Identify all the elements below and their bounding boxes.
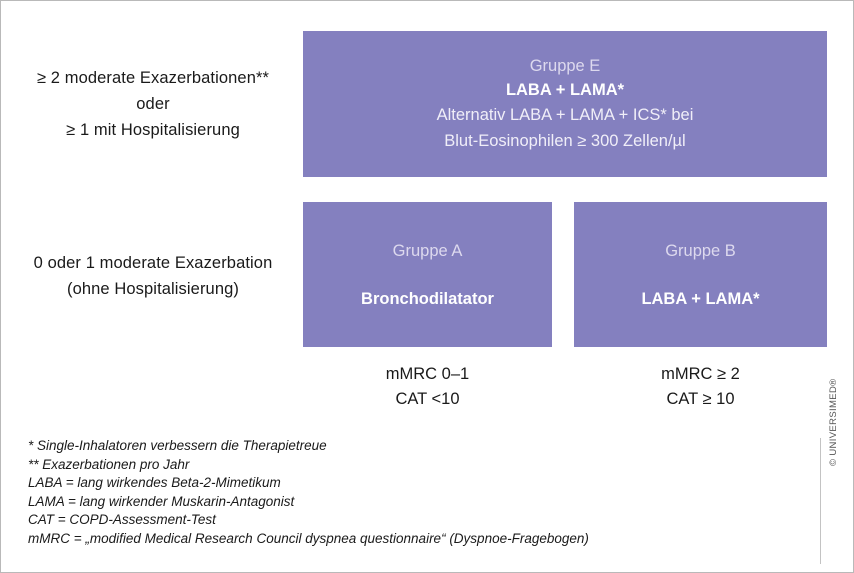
copd-treatment-diagram: ≥ 2 moderate Exazerbationen** oder ≥ 1 m… [0,0,854,573]
group-e-therapy: LABA + LAMA* [506,78,624,102]
row-label-high-exacerbation: ≥ 2 moderate Exazerbationen** oder ≥ 1 m… [9,65,297,143]
row-label-low-line2: (ohne Hospitalisierung) [9,276,297,302]
footnote-line: LAMA = lang wirkender Muskarin-Antagonis… [28,493,788,512]
footnote-line: mMRC = „modified Medical Research Counci… [28,530,788,549]
group-a-box: Gruppe A Bronchodilatator [303,202,552,347]
copyright-divider [820,438,821,564]
group-e-name: Gruppe E [530,54,601,78]
axis-caption-group-b: mMRC ≥ 2 CAT ≥ 10 [574,362,827,412]
row-label-low-line1: 0 oder 1 moderate Exazerbation [9,250,297,276]
footnote-line: ** Exazerbationen pro Jahr [28,456,788,475]
footnote-line: CAT = COPD-Assessment-Test [28,511,788,530]
axis-caption-group-b-cat: CAT ≥ 10 [574,387,827,412]
footnote-line: LABA = lang wirkendes Beta-2-Mimetikum [28,474,788,493]
group-b-therapy: LABA + LAMA* [641,287,759,311]
group-e-box: Gruppe E LABA + LAMA* Alternativ LABA + … [303,31,827,177]
footnote-line: * Single-Inhalatoren verbessern die Ther… [28,437,788,456]
row-label-high-line2: oder [9,91,297,117]
group-a-name: Gruppe A [393,239,463,263]
group-e-alt-line1: Alternativ LABA + LAMA + ICS* bei [437,102,694,128]
group-a-therapy: Bronchodilatator [361,287,494,311]
group-e-alt-line2: Blut-Eosinophilen ≥ 300 Zellen/µl [444,128,685,154]
axis-caption-group-b-mmrc: mMRC ≥ 2 [574,362,827,387]
axis-caption-group-a: mMRC 0–1 CAT <10 [303,362,552,412]
footnote-block: * Single-Inhalatoren verbessern die Ther… [28,437,788,549]
group-b-name: Gruppe B [665,239,736,263]
row-label-low-exacerbation: 0 oder 1 moderate Exazerbation (ohne Hos… [9,250,297,302]
row-label-high-line1: ≥ 2 moderate Exazerbationen** [9,65,297,91]
row-label-high-line3: ≥ 1 mit Hospitalisierung [9,117,297,143]
axis-caption-group-a-mmrc: mMRC 0–1 [303,362,552,387]
copyright-notice: © UNIVERSIMED® [828,378,839,466]
axis-caption-group-a-cat: CAT <10 [303,387,552,412]
group-b-box: Gruppe B LABA + LAMA* [574,202,827,347]
